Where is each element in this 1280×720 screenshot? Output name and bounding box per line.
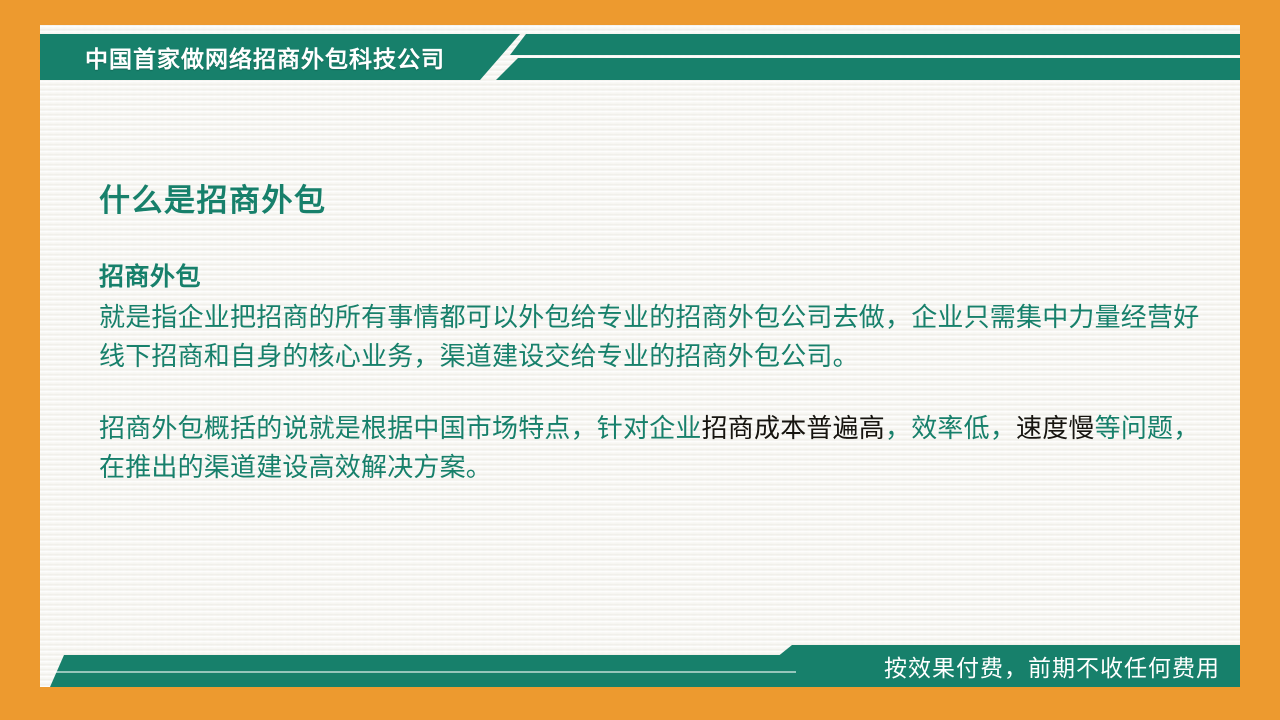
paragraph-definition: 就是指企业把招商的所有事情都可以外包给专业的招商外包公司去做，企业只需集中力量经… [99, 298, 1219, 376]
slide: 中国首家做网络招商外包科技公司 什么是招商外包 招商外包 就是指企业把招商的所有… [0, 0, 1280, 720]
paragraph-summary: 招商外包概括的说就是根据中国市场特点，针对企业招商成本普遍高，效率低，速度慢等问… [99, 409, 1219, 487]
summary-text-part-3: ，效率低， [885, 413, 1016, 443]
summary-highlight-speed: 速度慢 [1016, 413, 1095, 443]
summary-highlight-cost: 招商成本普遍高 [702, 413, 885, 443]
main-content: 什么是招商外包 招商外包 就是指企业把招商的所有事情都可以外包给专业的招商外包公… [99, 175, 1219, 487]
summary-text-part-1: 招商外包概括的说就是根据中国市场特点，针对企业 [99, 413, 702, 443]
section-subheading: 招商外包 [99, 264, 1219, 292]
page-title: 什么是招商外包 [99, 175, 1219, 220]
paragraph-spacer [99, 376, 1219, 409]
